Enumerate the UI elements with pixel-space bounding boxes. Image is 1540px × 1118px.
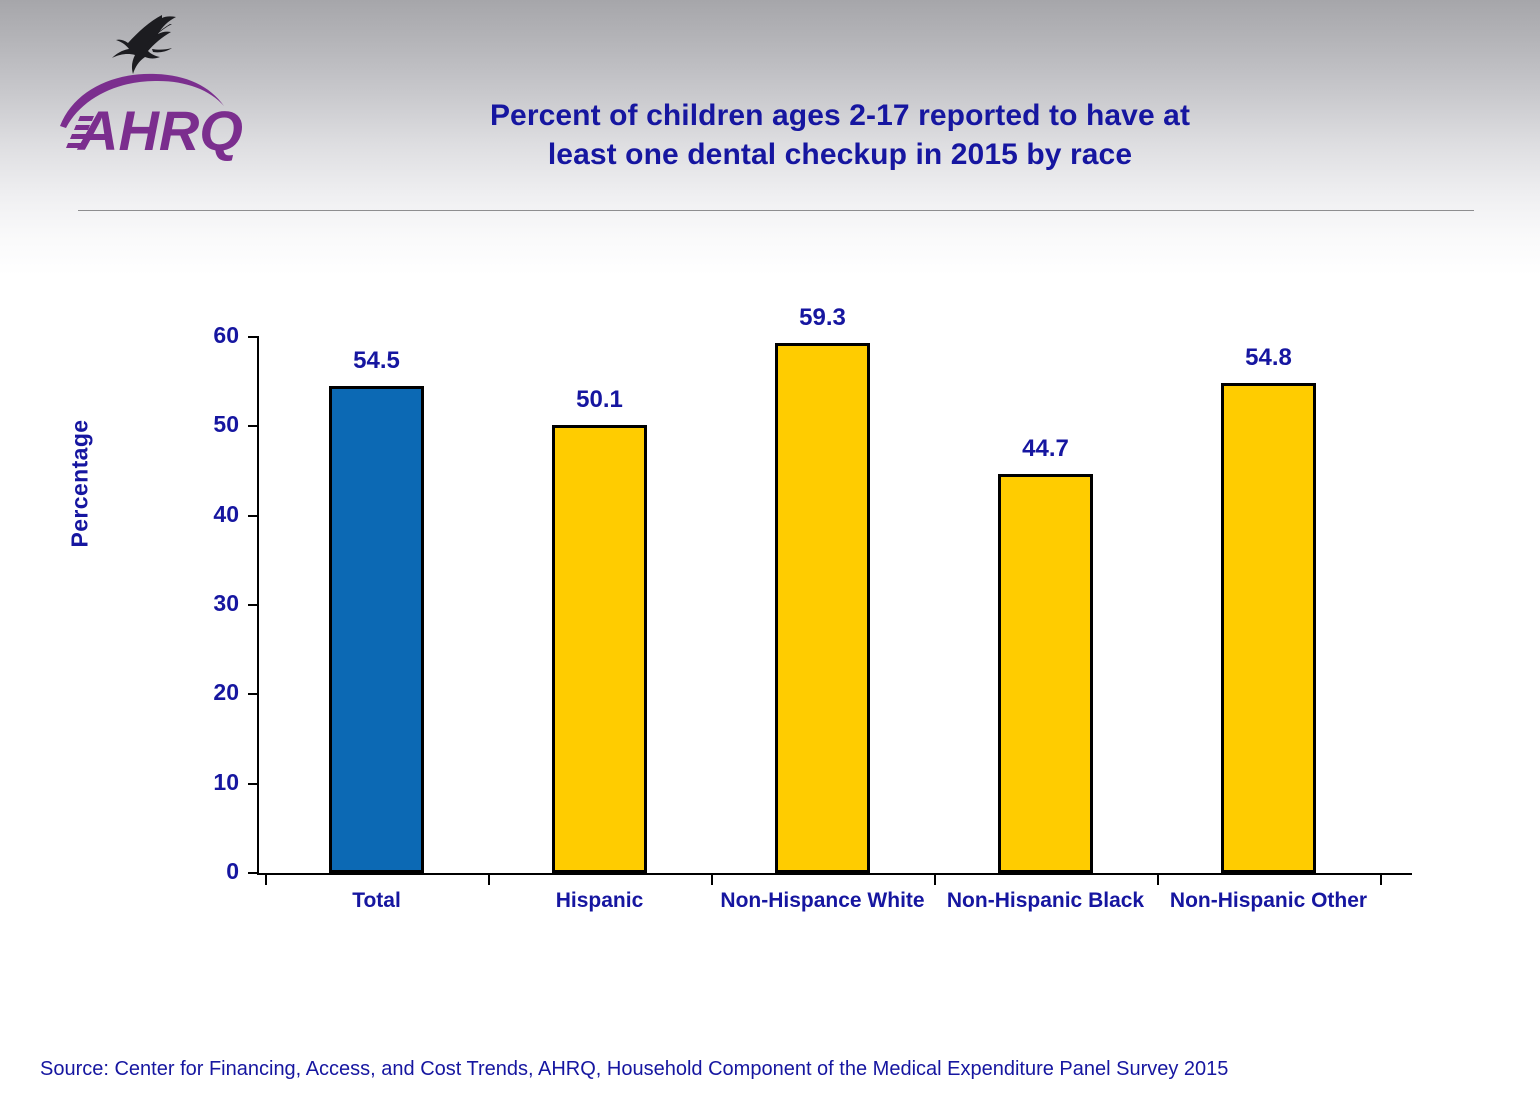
- bar-value-label: 44.7: [986, 435, 1106, 463]
- x-axis-category-label: Non-Hispanic Other: [1139, 889, 1399, 913]
- bar: [998, 474, 1093, 873]
- bar: [552, 425, 647, 873]
- bar: [1221, 383, 1316, 873]
- x-axis-tick-mark: [711, 875, 713, 885]
- bar-value-label: 54.8: [1209, 344, 1329, 372]
- y-axis-line: [257, 337, 259, 875]
- bar-value-label: 50.1: [540, 386, 660, 414]
- x-axis-tick-mark: [488, 875, 490, 885]
- y-axis-tick-label: 30: [179, 590, 239, 617]
- x-axis-tick-mark: [265, 875, 267, 885]
- bar-value-label: 54.5: [317, 347, 437, 375]
- bar-chart: Percentage 0102030405060 54.550.159.344.…: [0, 0, 1540, 1118]
- bar: [775, 343, 870, 873]
- y-axis-tick-label: 40: [179, 501, 239, 528]
- x-axis-category-label: Non-Hispanic Black: [916, 889, 1176, 913]
- y-axis-tick-label: 60: [179, 322, 239, 349]
- x-axis-tick-mark: [1380, 875, 1382, 885]
- x-axis-tick-mark: [1157, 875, 1159, 885]
- x-axis-category-label: Total: [247, 889, 507, 913]
- x-axis-line: [257, 873, 1412, 875]
- bar-value-label: 59.3: [763, 304, 883, 332]
- x-axis-category-label: Hispanic: [470, 889, 730, 913]
- y-axis-tick-label: 20: [179, 679, 239, 706]
- x-axis-tick-mark: [934, 875, 936, 885]
- slide-canvas: AHRQ Percent of children ages 2-17 repor…: [0, 0, 1540, 1118]
- y-axis-tick-label: 0: [179, 858, 239, 885]
- source-note: Source: Center for Financing, Access, an…: [40, 1058, 1228, 1081]
- bar: [329, 386, 424, 873]
- y-axis-tick-label: 50: [179, 411, 239, 438]
- y-axis-tick-label: 10: [179, 769, 239, 796]
- x-axis-category-label: Non-Hispance White: [693, 889, 953, 913]
- y-axis-title: Percentage: [67, 384, 94, 584]
